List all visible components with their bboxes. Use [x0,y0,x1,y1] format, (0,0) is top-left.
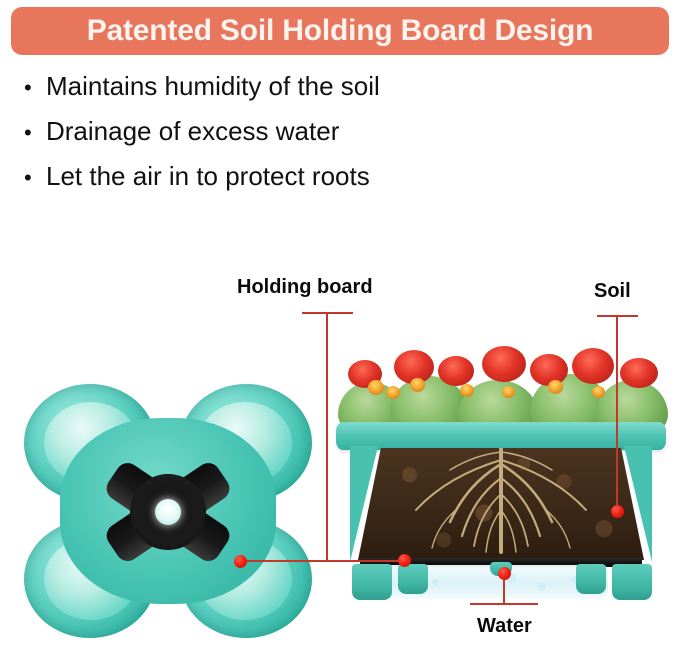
marker-dot-holding-board-left [234,555,247,568]
planter-foot [612,564,652,600]
flower-bloom-small [460,384,474,397]
planter-foot [398,564,428,594]
bullet-icon: • [24,77,46,99]
water-droplet [432,579,439,586]
planter-foot [352,564,392,600]
header-banner: Patented Soil Holding Board Design [11,7,669,55]
callout-label-soil: Soil [594,280,631,303]
flower-bloom [620,358,658,388]
marker-dot-holding-board-right [398,554,411,567]
list-item-label: Drainage of excess water [46,117,339,146]
list-item: • Let the air in to protect roots [24,162,544,207]
flower-bloom-small [368,380,384,395]
flower-bloom-small [502,386,515,398]
planter-cross-section-image [334,336,668,604]
root-system [358,448,644,560]
flower-bloom-small [592,386,605,398]
flower-bloom [530,354,568,386]
flower-bloom [572,348,614,384]
callout-label-water: Water [477,615,532,638]
list-item-label: Let the air in to protect roots [46,162,370,191]
marker-dot-soil [611,505,624,518]
list-item-label: Maintains humidity of the soil [46,72,380,101]
plant-foliage [334,336,668,432]
flower-bloom-small [410,378,425,392]
page-title: Patented Soil Holding Board Design [87,16,594,46]
flower-bloom [482,346,526,382]
planter-top-view-image [18,382,318,640]
list-item: • Drainage of excess water [24,117,544,162]
feature-list: • Maintains humidity of the soil • Drain… [24,72,544,207]
bullet-icon: • [24,167,46,189]
bullet-icon: • [24,122,46,144]
flower-bloom-small [386,386,400,399]
soil-holding-board-top-view [78,434,258,590]
flower-bloom [438,356,474,386]
callout-label-holding-board: Holding board [237,276,373,299]
marker-dot-water [498,567,511,580]
list-item: • Maintains humidity of the soil [24,72,544,117]
board-center-hole [155,499,181,525]
flower-bloom-small [548,380,563,394]
planter-foot [576,564,606,594]
water-droplet [538,583,546,591]
